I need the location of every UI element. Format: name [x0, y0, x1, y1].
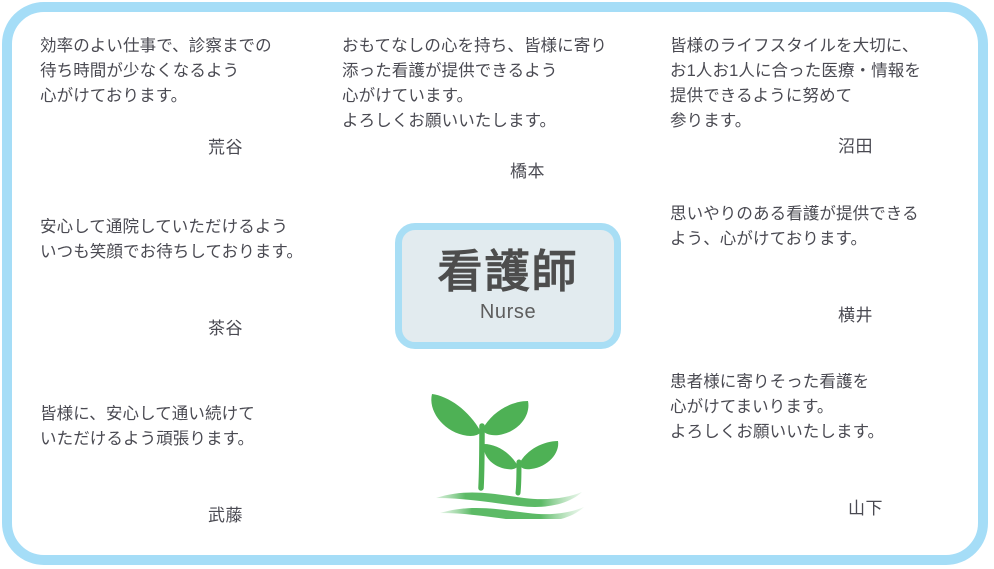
message-block-muto: 皆様に、安心して通い続けて いただけるよう頑張ります。 武藤: [40, 402, 340, 528]
role-badge-subtitle: Nurse: [480, 300, 536, 324]
page-root: 効率のよい仕事で、診察までの 待ち時間が少なくなるよう 心がけております。 荒谷…: [0, 0, 994, 569]
message-author: 山下: [670, 496, 990, 521]
message-author: 横井: [670, 303, 990, 328]
message-author: 荒谷: [40, 135, 340, 160]
message-block-yokoi: 思いやりのある看護が提供できる よう、心がけております。 横井: [670, 202, 990, 328]
message-author: 武藤: [40, 503, 340, 528]
message-block-numata: 皆様のライフスタイルを大切に、 お1人お1人に合った医療・情報を 提供できるよう…: [670, 34, 990, 159]
message-body: おもてなしの心を持ち、皆様に寄り 添った看護が提供できるよう 心がけています。 …: [342, 34, 652, 134]
sprout-icon: [422, 374, 597, 519]
role-badge-title: 看護師: [437, 247, 578, 297]
message-body: 皆様のライフスタイルを大切に、 お1人お1人に合った医療・情報を 提供できるよう…: [670, 34, 990, 134]
message-author: 橋本: [342, 159, 652, 184]
message-body: 皆様に、安心して通い続けて いただけるよう頑張ります。: [40, 402, 340, 452]
role-badge: 看護師 Nurse: [395, 223, 621, 349]
message-author: 沼田: [670, 134, 990, 159]
message-block-araya: 効率のよい仕事で、診察までの 待ち時間が少なくなるよう 心がけております。 荒谷: [40, 34, 340, 160]
message-body: 安心して通院していただけるよう いつも笑顔でお待ちしております。: [40, 215, 350, 265]
message-block-yamashita: 患者様に寄りそった看護を 心がけてまいります。 よろしくお願いいたします。 山下: [670, 370, 990, 521]
message-body: 患者様に寄りそった看護を 心がけてまいります。 よろしくお願いいたします。: [670, 370, 990, 445]
message-block-hashimoto: おもてなしの心を持ち、皆様に寄り 添った看護が提供できるよう 心がけています。 …: [342, 34, 652, 184]
message-block-chatani: 安心して通院していただけるよう いつも笑顔でお待ちしております。 茶谷: [40, 215, 350, 341]
message-author: 茶谷: [40, 316, 350, 341]
message-body: 効率のよい仕事で、診察までの 待ち時間が少なくなるよう 心がけております。: [40, 34, 340, 109]
outer-frame: 効率のよい仕事で、診察までの 待ち時間が少なくなるよう 心がけております。 荒谷…: [2, 2, 988, 565]
message-body: 思いやりのある看護が提供できる よう、心がけております。: [670, 202, 990, 252]
